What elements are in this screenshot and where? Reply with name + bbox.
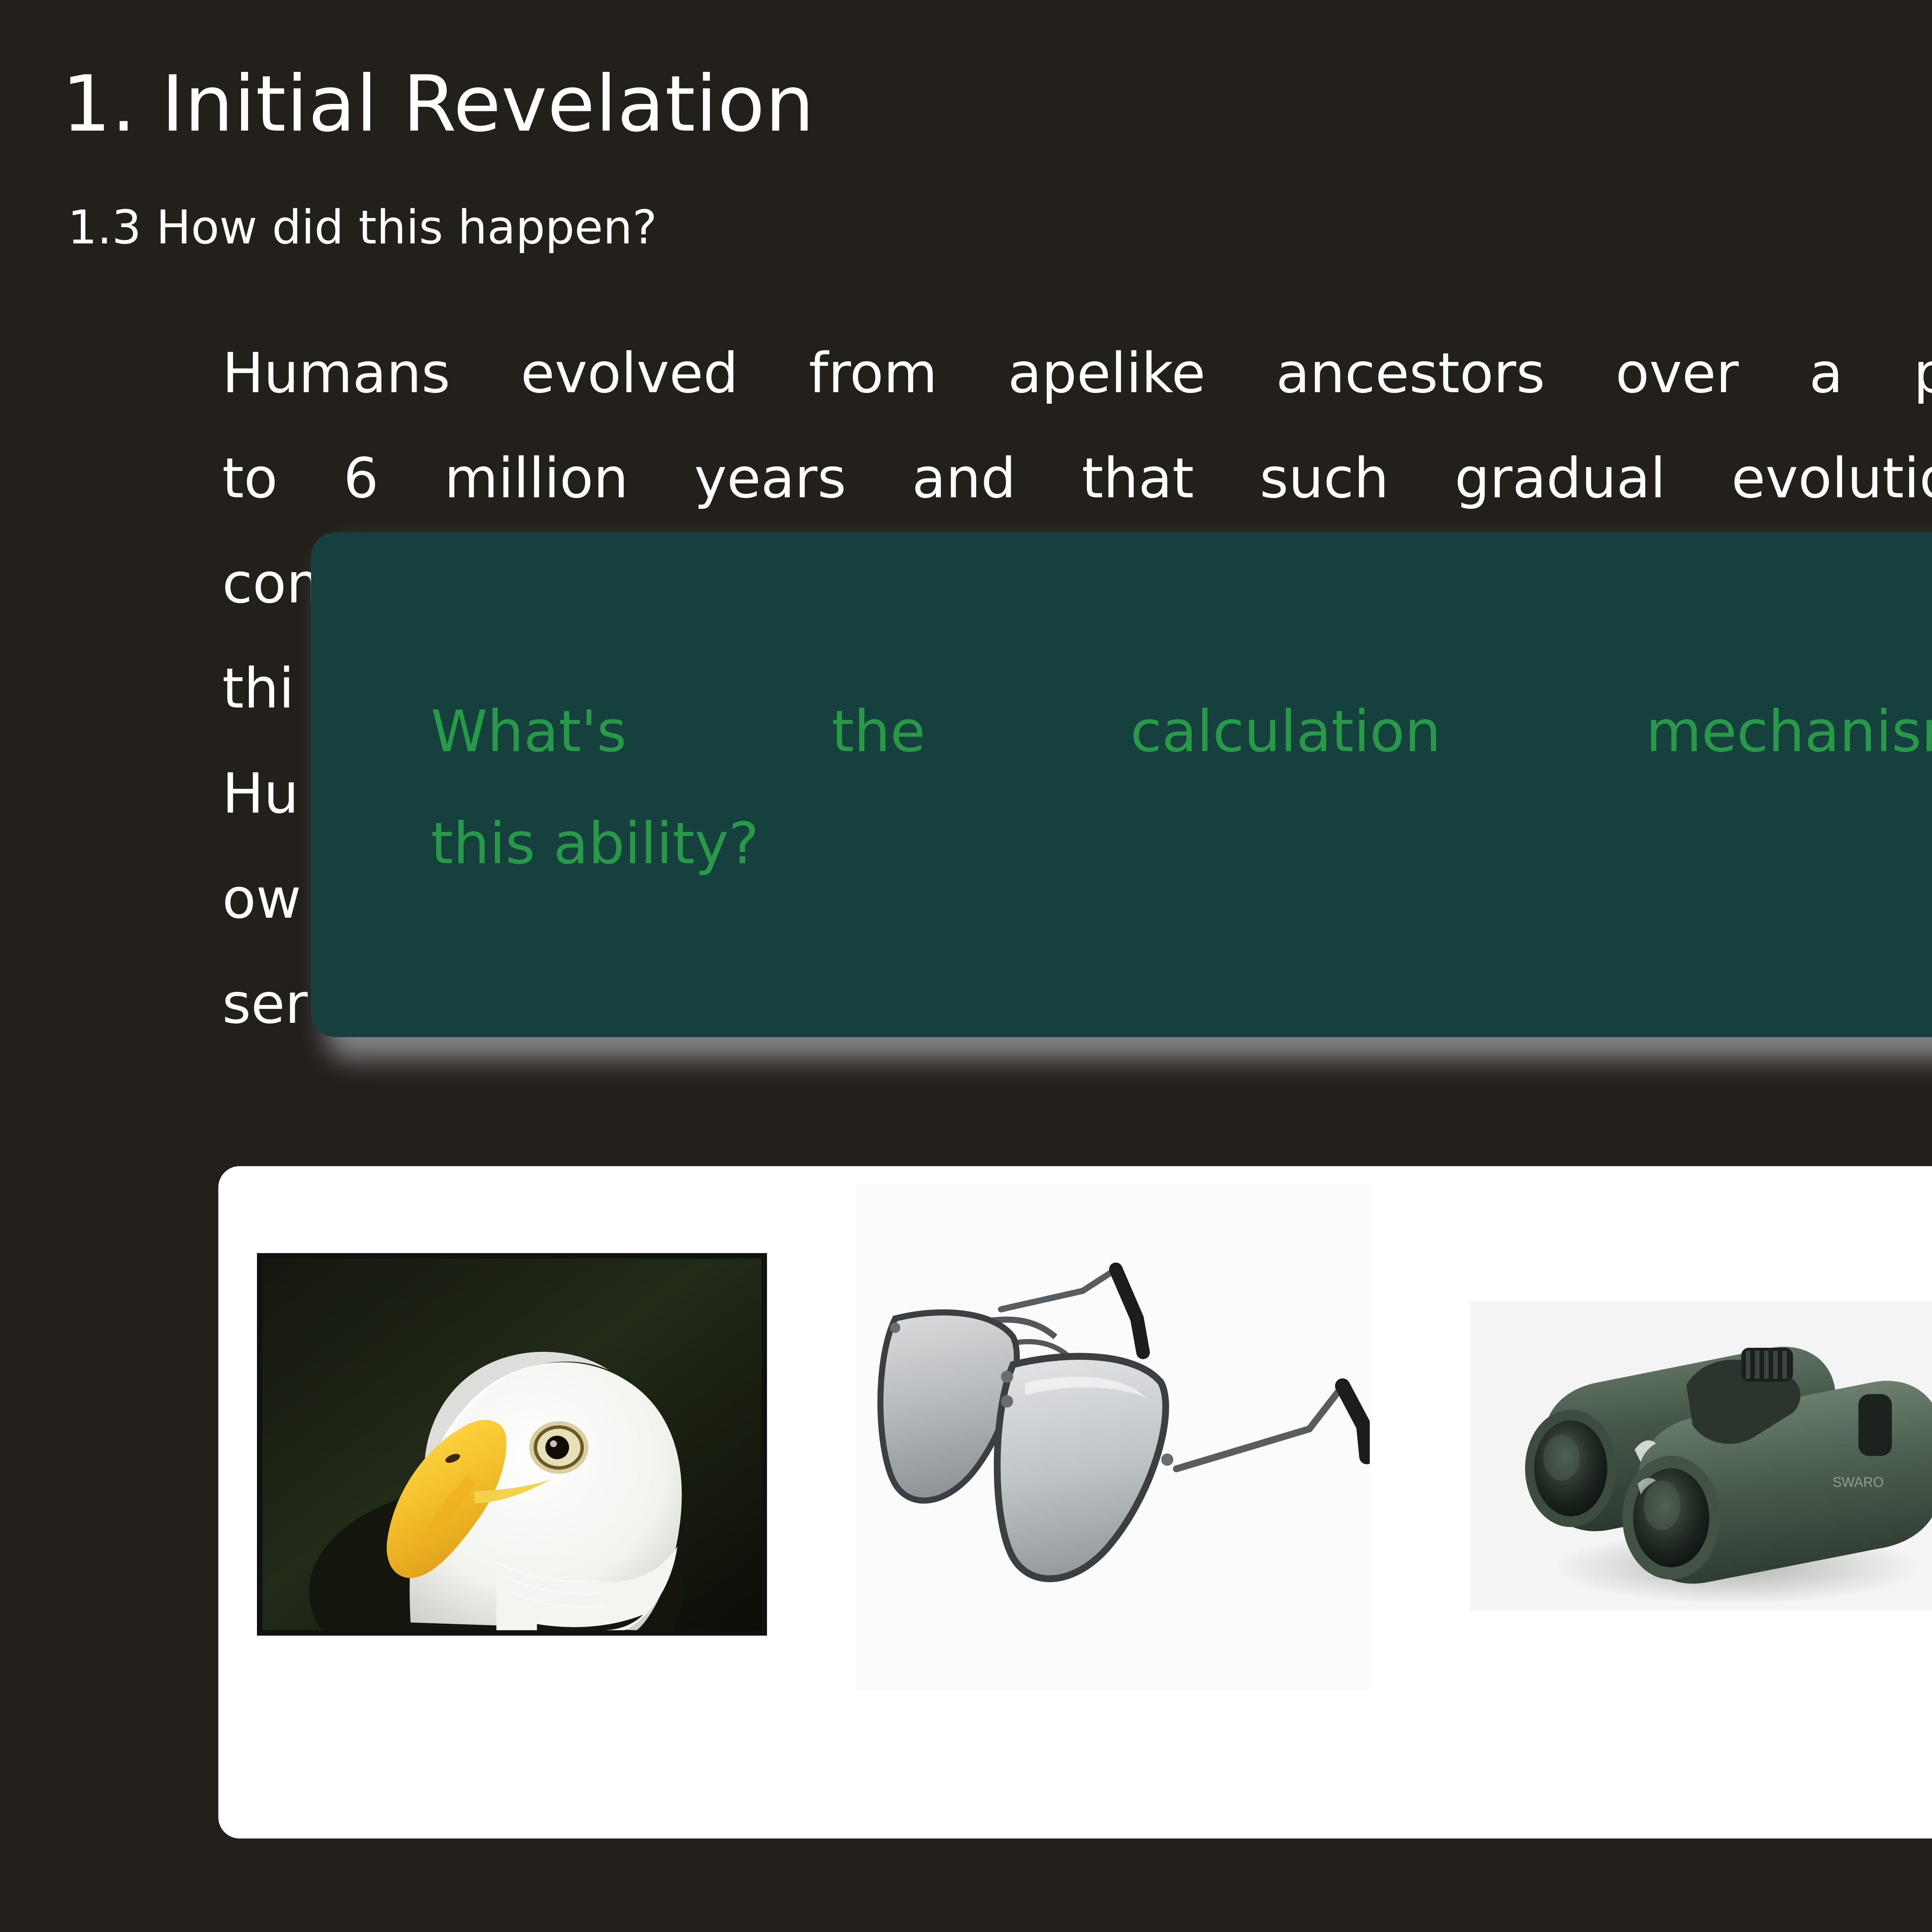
word: the <box>832 675 925 787</box>
callout-text: What's the calculation mechanism behind … <box>431 675 1932 900</box>
word: What's <box>431 675 627 787</box>
word: apelike <box>1008 321 1206 426</box>
word-fragment: thi <box>222 636 294 741</box>
word: years <box>694 426 847 531</box>
callout-line: this ability? <box>431 787 1932 900</box>
word: 6 <box>344 426 379 531</box>
word: that <box>1082 426 1194 531</box>
page-subtitle: 1.3 How did this happen? <box>68 205 657 251</box>
presentation-slide: 1. Initial Revelation 1.3 How did this h… <box>0 0 1932 1932</box>
word: evolutionary <box>1731 426 1932 531</box>
aviator-sunglasses-illustration <box>856 1184 1370 1690</box>
word: mechanism <box>1646 675 1932 787</box>
binoculars-illustration: SWARO <box>1470 1301 1932 1611</box>
page-title: 1. Initial Revelation <box>62 66 815 143</box>
word: from <box>809 321 937 426</box>
word: to <box>222 426 278 531</box>
word: calculation <box>1130 675 1441 787</box>
word-fragment: ow <box>222 846 301 951</box>
word-fragment: Hu <box>222 741 299 846</box>
bald-eagle-illustration <box>262 1259 762 1630</box>
binoculars-photo: SWARO <box>1470 1301 1932 1611</box>
body-line: Humans evolved from apelike ancestors ov… <box>222 321 1932 426</box>
word: million <box>444 426 628 531</box>
word: period <box>1913 321 1932 426</box>
word: such <box>1260 426 1389 531</box>
word-fragment: ser <box>222 971 308 1036</box>
question-callout-box: What's the calculation mechanism behind … <box>311 532 1932 1037</box>
callout-line: What's the calculation mechanism behind <box>431 675 1932 787</box>
word: and <box>912 426 1016 531</box>
word: gradual <box>1455 426 1666 531</box>
word: over <box>1616 321 1739 426</box>
bald-eagle-photo <box>257 1253 767 1636</box>
body-line: to 6 million years and that such gradual… <box>222 426 1932 531</box>
word: Humans <box>222 321 450 426</box>
svg-text:SWARO: SWARO <box>1833 1475 1884 1490</box>
sunglasses-photo <box>856 1184 1370 1690</box>
word: a <box>1809 321 1843 426</box>
word: ancestors <box>1276 321 1545 426</box>
word: evolved <box>521 321 738 426</box>
image-gallery-card: SWARO <box>218 1166 1932 1838</box>
